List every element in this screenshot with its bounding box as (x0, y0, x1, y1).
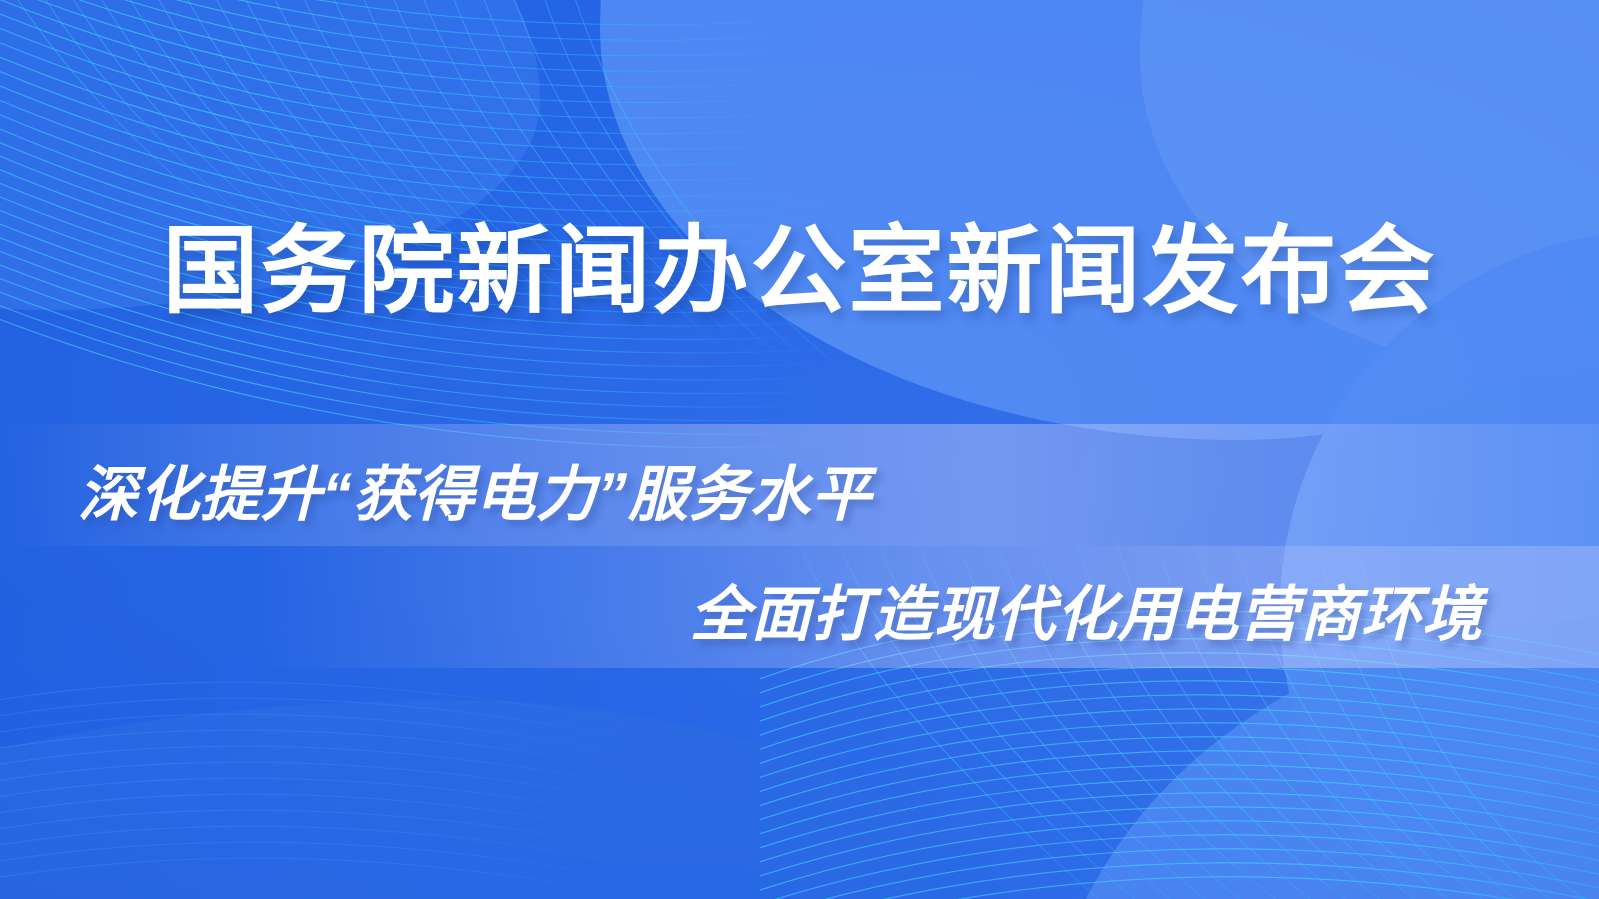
page-title: 国务院新闻办公室新闻发布会 (0, 222, 1599, 323)
subtitle-line-2: 全面打造现代化用电营商环境 (690, 566, 1483, 653)
title-card-stage: 国务院新闻办公室新闻发布会 深化提升“获得电力”服务水平 全面打造现代化用电营商… (0, 0, 1599, 899)
text-content: 国务院新闻办公室新闻发布会 深化提升“获得电力”服务水平 全面打造现代化用电营商… (0, 0, 1599, 899)
subtitle-line-1: 深化提升“获得电力”服务水平 (78, 446, 872, 533)
